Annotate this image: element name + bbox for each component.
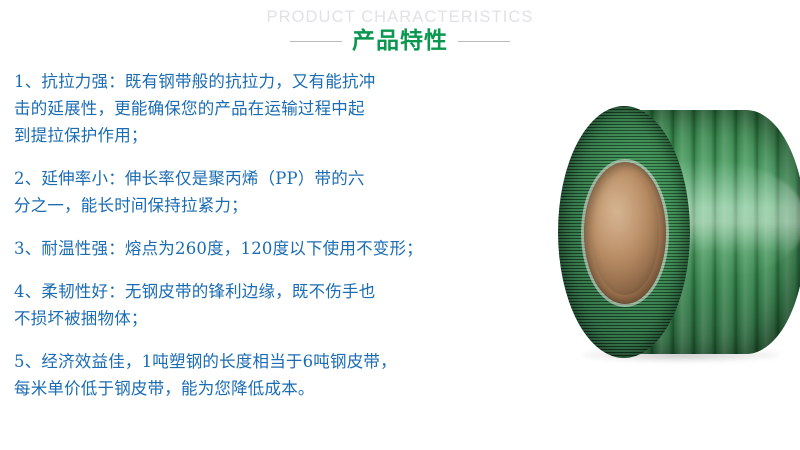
feature-list: 1、抗拉力强：既有钢带般的抗拉力，又有能抗冲 击的延展性，更能确保您的产品在运输…: [14, 68, 554, 402]
feature-item-3: 3、耐温性强：熔点为260度，120度以下使用不变形；: [14, 235, 554, 262]
feature-item-4: 4、柔韧性好：无钢皮带的锋利边缘，既不伤手也 不损坏被捆物体；: [14, 278, 554, 332]
section-title-row: 产品特性: [0, 28, 800, 54]
roll-core-inner-shading: [591, 171, 659, 295]
section-title-chinese: 产品特性: [352, 28, 448, 54]
roll-cardboard-core: [584, 162, 666, 304]
section-title-english: PRODUCT CHARACTERISTICS: [0, 8, 800, 27]
title-rule-right: [458, 41, 510, 42]
section-header: PRODUCT CHARACTERISTICS 产品特性: [0, 0, 800, 66]
feature-item-2: 2、延伸率小：伸长率仅是聚丙烯（PP）带的六 分之一，能长时间保持拉紧力；: [14, 165, 554, 219]
feature-item-1: 1、抗拉力强：既有钢带般的抗拉力，又有能抗冲 击的延展性，更能确保您的产品在运输…: [14, 68, 554, 149]
product-characteristics-page: PRODUCT CHARACTERISTICS 产品特性 1、抗拉力强：既有钢带…: [0, 0, 800, 450]
feature-item-5: 5、经济效益佳，1吨塑钢的长度相当于6吨钢皮带， 每米单价低于钢皮带，能为您降低…: [14, 348, 554, 402]
strapping-roll-illustration: [558, 106, 800, 358]
product-photo: [548, 98, 800, 366]
title-rule-left: [290, 41, 342, 42]
